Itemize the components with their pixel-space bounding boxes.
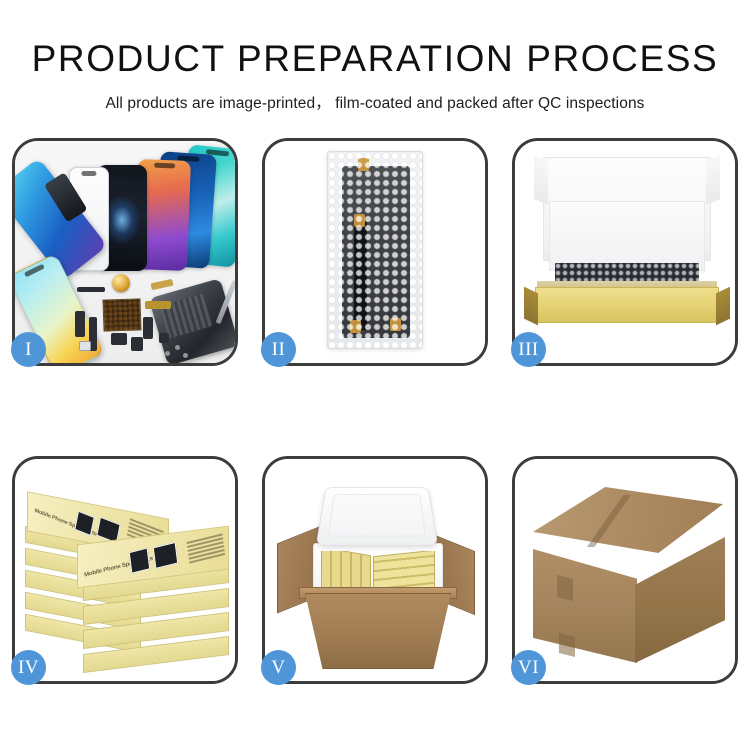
screw-icon [175, 345, 180, 350]
screen-assembly-icon [342, 166, 410, 338]
page-subtitle: All products are image-printed， film-coa… [0, 91, 750, 113]
process-steps-grid: I II III [12, 138, 738, 678]
process-step-2[interactable]: II [262, 138, 488, 366]
step-badge-3: III [511, 332, 546, 367]
parts-and-screens-photo [15, 141, 235, 363]
carton-with-styrofoam-photo [265, 459, 485, 681]
spare-part-icon [159, 333, 169, 343]
box-stack-icon: Mobile Phone Spare Parts Mobile Phone Sp… [21, 477, 235, 673]
process-step-1[interactable]: I [12, 138, 238, 366]
box-window-icon [129, 548, 151, 574]
tape-icon [350, 320, 361, 333]
box-window-icon [153, 542, 179, 569]
styrofoam-lid-icon [316, 487, 439, 546]
carton-body-icon [305, 593, 451, 669]
step-badge-6: VI [511, 650, 546, 685]
step-badge-5: V [261, 650, 296, 685]
flex-cable-icon [354, 222, 367, 330]
page-header: PRODUCT PREPARATION PROCESS All products… [0, 0, 750, 113]
screw-icon [183, 353, 188, 358]
notch-icon [81, 171, 96, 176]
spare-part-icon [143, 317, 153, 339]
bubble-wrapped-screen-photo [265, 141, 485, 363]
tape-icon [354, 214, 365, 227]
spare-part-icon [131, 337, 143, 351]
spare-part-icon [75, 311, 85, 337]
sealed-carton-photo [515, 459, 735, 681]
carton-tape-icon [557, 575, 573, 601]
step-badge-4: IV [11, 650, 46, 685]
notch-icon [24, 264, 45, 278]
spare-part-icon [111, 333, 127, 345]
chip-grid-icon [102, 298, 141, 331]
carton-tape-icon [559, 633, 575, 657]
carton-left-face-icon [533, 549, 637, 663]
screw-icon [165, 351, 170, 356]
tape-icon [358, 158, 369, 171]
spare-part-icon [77, 287, 105, 292]
step-badge-2: II [261, 332, 296, 367]
process-step-3[interactable]: III [512, 138, 738, 366]
open-inner-box-photo [515, 141, 735, 363]
stacked-retail-boxes-photo: Mobile Phone Spare Parts Mobile Phone Sp… [15, 459, 235, 681]
step-badge-1: I [11, 332, 46, 367]
box-window-icon [74, 511, 95, 536]
carton-right-face-icon [635, 537, 725, 663]
spare-part-icon [145, 301, 171, 309]
spare-part-icon [79, 341, 91, 351]
screen-glow-icon [104, 196, 140, 245]
tape-icon [390, 318, 401, 331]
notch-icon [154, 163, 175, 169]
copper-coil-icon [112, 274, 130, 292]
page-title: PRODUCT PREPARATION PROCESS [0, 40, 750, 79]
process-step-4[interactable]: Mobile Phone Spare Parts Mobile Phone Sp… [12, 456, 238, 684]
yellow-box-tray-icon [535, 287, 719, 323]
box-spec-lines-icon [187, 533, 226, 565]
foam-sheet-icon [549, 201, 705, 271]
bubble-wrap-bag-icon [327, 151, 423, 349]
process-step-5[interactable]: V [262, 456, 488, 684]
process-step-6[interactable]: VI [512, 456, 738, 684]
